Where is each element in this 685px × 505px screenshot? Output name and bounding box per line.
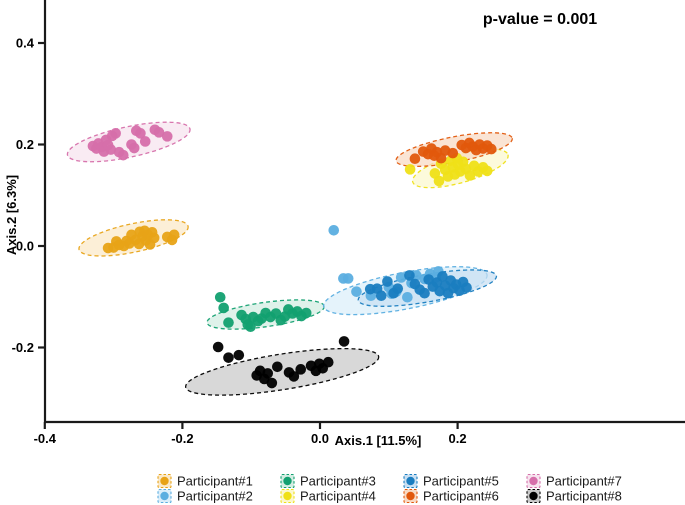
legend-swatch-dot [160,492,168,500]
data-point [118,150,129,161]
data-point [223,317,234,328]
y-tick-label: 0.2 [16,137,34,152]
legend-label: Participant#3 [300,474,376,489]
legend-swatch-dot [529,477,537,485]
data-point [110,128,121,139]
legend-label: Participant#8 [546,489,622,504]
data-point [339,336,350,347]
legend-label: Participant#5 [423,474,499,489]
data-point [234,350,245,361]
legend-item[interactable]: Participant#1 [158,474,253,489]
data-point [223,352,234,363]
data-point [382,276,393,287]
pcoa-figure: -0.4-0.20.00.20.40.20.0-0.2 Axis.1 [11.5… [0,0,685,505]
x-tick-label: -0.4 [34,431,57,446]
legend-swatch-dot [283,492,291,500]
data-point [486,144,497,155]
p-value-annotation: p-value = 0.001 [483,11,597,28]
data-point [301,308,312,319]
confidence-ellipse [183,339,382,405]
legend-swatch-dot [160,477,168,485]
data-point [402,292,413,303]
data-point [218,303,229,314]
data-point [405,164,416,175]
legend-item[interactable]: Participant#4 [281,489,376,504]
data-point [410,153,421,164]
data-point [351,286,362,297]
y-tick-label: -0.2 [12,340,34,355]
y-tick-label: 0.4 [16,36,35,51]
x-tick-label: 0.0 [311,431,329,446]
legend-label: Participant#6 [423,489,499,504]
legend-label: Participant#7 [546,474,622,489]
data-point [376,290,387,301]
legend: Participant#1Participant#2Participant#3P… [158,474,622,504]
legend-item[interactable]: Participant#2 [158,489,253,504]
legend-item[interactable]: Participant#7 [527,474,622,489]
data-point [267,378,278,389]
data-point [169,230,180,241]
legend-item[interactable]: Participant#3 [281,474,376,489]
legend-item[interactable]: Participant#5 [404,474,499,489]
legend-item[interactable]: Participant#6 [404,489,499,504]
data-point [323,357,334,368]
legend-swatch-dot [406,492,414,500]
data-point [129,143,140,154]
y-axis-title: Axis.2 [6.3%] [4,175,19,255]
data-point [149,233,160,244]
data-point [328,225,339,236]
data-point [392,283,403,294]
legend-item[interactable]: Participant#8 [527,489,622,504]
legend-swatch-dot [406,477,414,485]
legend-swatch-dot [529,492,537,500]
data-point [434,176,445,187]
data-point [447,148,458,159]
x-tick-label: -0.2 [171,431,193,446]
data-point [272,361,283,372]
legend-label: Participant#1 [177,474,253,489]
x-tick-label: 0.2 [449,431,467,446]
data-point [461,282,472,293]
data-point [213,342,224,353]
data-point [140,136,151,147]
data-point [162,131,173,142]
data-point [262,368,273,379]
legend-swatch-dot [283,477,291,485]
x-axis-title: Axis.1 [11.5%] [335,433,422,448]
scatter-plot-canvas: -0.4-0.20.00.20.40.20.0-0.2 Axis.1 [11.5… [0,0,685,505]
data-point [215,292,226,303]
data-point [482,166,493,177]
legend-label: Participant#4 [300,489,376,504]
legend-label: Participant#2 [177,489,253,504]
data-point [295,364,306,375]
data-point [343,273,354,284]
data-point [419,288,430,299]
